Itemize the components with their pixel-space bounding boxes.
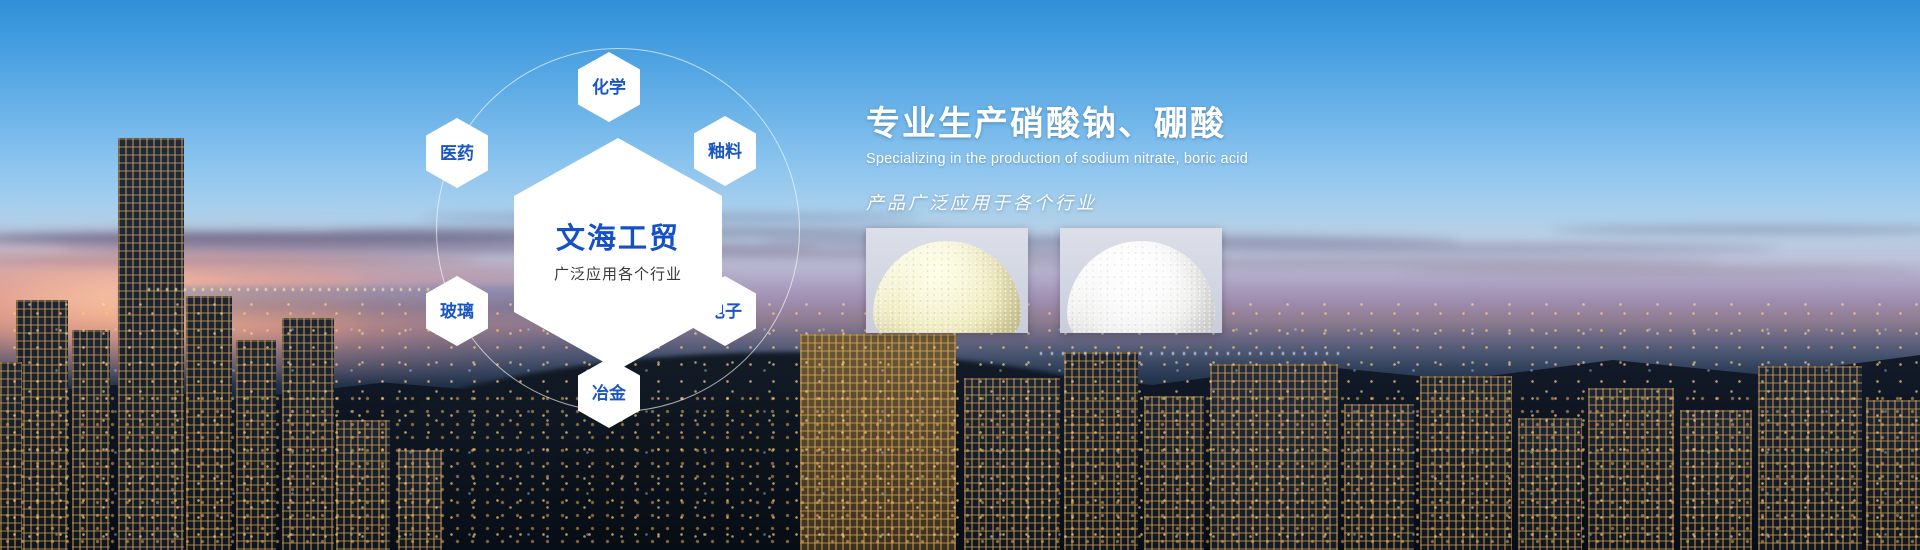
hex-node-label: 冶金 [592, 385, 626, 402]
product-photo-sodium-nitrate[interactable] [866, 228, 1028, 333]
brand-name: 文海工贸 [556, 224, 680, 256]
product-photo-boric-acid[interactable] [1060, 228, 1222, 333]
brand-tagline: 广泛应用各个行业 [554, 263, 682, 284]
hero-banner: 化学 釉料 电子 冶金 玻璃 医药 文海工贸 广泛应用各个行业 专业生产硝酸钠、… [0, 0, 1920, 550]
industry-hexagon-diagram: 化学 釉料 电子 冶金 玻璃 医药 文海工贸 广泛应用各个行业 [418, 18, 838, 438]
bridge-lights [148, 288, 448, 291]
headline-block: 专业生产硝酸钠、硼酸 Specializing in the productio… [866, 104, 1486, 215]
hex-node-label: 玻璃 [440, 303, 474, 320]
bridge-lights-far [1040, 352, 1340, 355]
headline-tagline: 产品广泛应用于各个行业 [866, 189, 1486, 215]
city-lights-near [0, 392, 1920, 550]
hex-node-label: 医药 [440, 145, 474, 162]
headline-text: 专业生产硝酸钠、硼酸 [866, 104, 1486, 144]
headline-subtext-english: Specializing in the production of sodium… [866, 151, 1486, 167]
hex-node-label: 化学 [592, 79, 626, 96]
cloud-band [1180, 244, 1780, 253]
cloud-band [1400, 266, 1920, 276]
hex-node-label: 釉料 [708, 143, 742, 160]
product-photo-group [866, 228, 1222, 333]
